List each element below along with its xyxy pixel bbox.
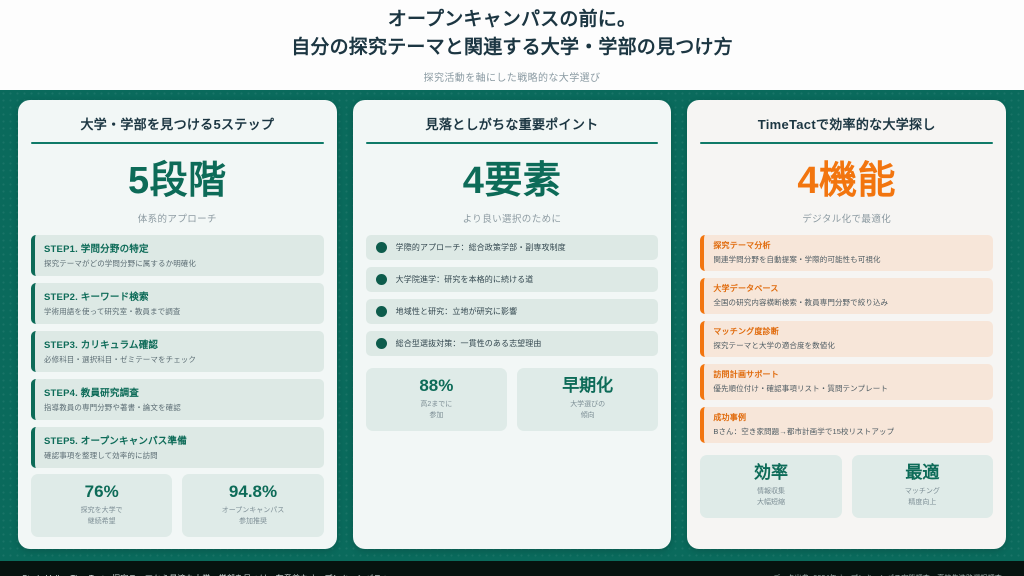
card-product-highlight: 4機能 デジタル化で最適化 (700, 148, 993, 235)
stat-label-line2: 参加推奨 (186, 517, 319, 528)
stat-label: 探究を大学で 継続希望 (35, 506, 168, 527)
list-item[interactable]: 地域性と研究：立地が研究に影響 (366, 299, 659, 324)
page-title-line2: 自分の探究テーマと関連する大学・学部の見つけ方 (291, 34, 733, 62)
card-points-list: 学際的アプローチ：総合政策学部・副専攻制度 大学院進学：研究を本格的に続ける道 … (366, 235, 659, 356)
card-product-big-value: 4機能 (700, 162, 993, 200)
card-points-title: 見落としがちな重要ポイント (366, 114, 659, 142)
feature-desc: 優先順位付け・確認事項リスト・質問テンプレート (713, 383, 984, 394)
feature-desc: Bさん：空き家問題→都市計画学で15校リストアップ (713, 426, 984, 437)
step-desc: 必修科目・選択科目・ゼミテーマをチェック (44, 354, 315, 365)
feature-title: 訪問計画サポート (713, 369, 984, 380)
card-steps-big-caption: 体系的アプローチ (31, 211, 324, 225)
stat-box: 早期化 大学選びの 傾向 (517, 368, 658, 431)
footer-brand-text: Study Valley TimeTact - 探究テーマから最適な大学・学部を… (22, 573, 390, 576)
list-item[interactable]: STEP5. オープンキャンパス準備 確認事項を整理して効率的に訪問 (31, 427, 324, 468)
stat-label-line2: 継続希望 (35, 517, 168, 528)
stat-label-line2: 大幅短縮 (704, 498, 837, 509)
slide-root: オープンキャンパスの前に。 自分の探究テーマと関連する大学・学部の見つけ方 探究… (0, 0, 1024, 576)
stat-label: 情報収集 大幅短縮 (704, 487, 837, 508)
stat-label-line1: 大学選びの (521, 400, 654, 411)
stat-box: 94.8% オープンキャンパス 参加推奨 (182, 474, 323, 537)
stat-label-line1: オープンキャンパス (186, 506, 319, 517)
card-product-list: 探究テーマ分析 関連学問分野を自動提案・学際的可能性も可視化 大学データベース … (700, 235, 993, 443)
stat-label-line1: マッチング (856, 487, 989, 498)
stat-label-line1: 探究を大学で (35, 506, 168, 517)
stat-value: 最適 (856, 464, 989, 481)
card-steps-title: 大学・学部を見つける5ステップ (31, 114, 324, 142)
bullet-dot-icon (376, 338, 387, 349)
bullet-dot-icon (376, 242, 387, 253)
card-points-highlight: 4要素 より良い選択のために (366, 148, 659, 235)
spacer (366, 431, 659, 537)
feature-desc: 関連学問分野を自動提案・学際的可能性も可視化 (713, 254, 984, 265)
step-desc: 学術用語を使って研究室・教員まで調査 (44, 306, 315, 317)
card-points: 見落としがちな重要ポイント 4要素 より良い選択のために 学際的アプローチ：総合… (353, 100, 672, 549)
bullet-dot-icon (376, 274, 387, 285)
list-item[interactable]: 大学データベース 全国の研究内容横断検索・教員専門分野で絞り込み (700, 278, 993, 314)
card-product-stats: 効率 情報収集 大幅短縮 最適 マッチング 精度向上 (700, 455, 993, 518)
page-subtitle: 探究活動を軸にした戦略的な大学選び (424, 69, 601, 84)
step-desc: 指導教員の専門分野や著書・論文を確認 (44, 402, 315, 413)
card-product: TimeTactで効率的な大学探し 4機能 デジタル化で最適化 探究テーマ分析 … (687, 100, 1006, 549)
list-item[interactable]: STEP3. カリキュラム確認 必修科目・選択科目・ゼミテーマをチェック (31, 331, 324, 372)
stat-value: 早期化 (521, 377, 654, 394)
content-panel: 大学・学部を見つける5ステップ 5段階 体系的アプローチ STEP1. 学問分野… (0, 90, 1024, 561)
stat-label-line1: 情報収集 (704, 487, 837, 498)
stat-label: オープンキャンパス 参加推奨 (186, 506, 319, 527)
feature-title: 成功事例 (713, 412, 984, 423)
card-points-big-value: 4要素 (366, 162, 659, 200)
bullet-dot-icon (376, 306, 387, 317)
card-points-rule (366, 142, 659, 144)
stat-box: 最適 マッチング 精度向上 (852, 455, 993, 518)
list-item[interactable]: 訪問計画サポート 優先順位付け・確認事項リスト・質問テンプレート (700, 364, 993, 400)
bullet-text: 総合型選抜対策：一貫性のある志望理由 (396, 338, 542, 349)
step-desc: 探究テーマがどの学問分野に属するか明確化 (44, 258, 315, 269)
list-item[interactable]: STEP1. 学問分野の特定 探究テーマがどの学問分野に属するか明確化 (31, 235, 324, 276)
stat-value: 効率 (704, 464, 837, 481)
feature-title: 探究テーマ分析 (713, 240, 984, 251)
stat-box: 88% 高2までに 参加 (366, 368, 507, 431)
list-item[interactable]: STEP2. キーワード検索 学術用語を使って研究室・教員まで調査 (31, 283, 324, 324)
step-title: STEP5. オープンキャンパス準備 (44, 433, 315, 447)
stat-label-line2: 傾向 (521, 411, 654, 422)
list-item[interactable]: 学際的アプローチ：総合政策学部・副専攻制度 (366, 235, 659, 260)
list-item[interactable]: 探究テーマ分析 関連学問分野を自動提案・学際的可能性も可視化 (700, 235, 993, 271)
step-desc: 確認事項を整理して効率的に訪問 (44, 450, 315, 461)
step-title: STEP4. 教員研究調査 (44, 385, 315, 399)
stat-value: 94.8% (186, 483, 319, 500)
stat-label: 大学選びの 傾向 (521, 400, 654, 421)
list-item[interactable]: 総合型選抜対策：一貫性のある志望理由 (366, 331, 659, 356)
stat-value: 88% (370, 377, 503, 394)
stat-label: マッチング 精度向上 (856, 487, 989, 508)
feature-desc: 全国の研究内容横断検索・教員専門分野で絞り込み (713, 297, 984, 308)
bullet-text: 大学院進学：研究を本格的に続ける道 (396, 274, 534, 285)
bullet-text: 学際的アプローチ：総合政策学部・副専攻制度 (396, 242, 566, 253)
feature-title: 大学データベース (713, 283, 984, 294)
card-steps-list: STEP1. 学問分野の特定 探究テーマがどの学問分野に属するか明確化 STEP… (31, 235, 324, 468)
step-title: STEP2. キーワード検索 (44, 289, 315, 303)
page-title: オープンキャンパスの前に。 自分の探究テーマと関連する大学・学部の見つけ方 (291, 6, 733, 61)
step-title: STEP3. カリキュラム確認 (44, 337, 315, 351)
slide-header: オープンキャンパスの前に。 自分の探究テーマと関連する大学・学部の見つけ方 探究… (0, 0, 1024, 90)
card-product-big-caption: デジタル化で最適化 (700, 211, 993, 225)
step-title: STEP1. 学問分野の特定 (44, 241, 315, 255)
slide-footer: Study Valley TimeTact - 探究テーマから最適な大学・学部を… (0, 561, 1024, 576)
list-item[interactable]: 大学院進学：研究を本格的に続ける道 (366, 267, 659, 292)
card-steps: 大学・学部を見つける5ステップ 5段階 体系的アプローチ STEP1. 学問分野… (18, 100, 337, 549)
card-steps-big-value: 5段階 (31, 162, 324, 200)
stat-value: 76% (35, 483, 168, 500)
card-product-title: TimeTactで効率的な大学探し (700, 114, 993, 142)
list-item[interactable]: STEP4. 教員研究調査 指導教員の専門分野や著書・論文を確認 (31, 379, 324, 420)
stat-label-line2: 精度向上 (856, 498, 989, 509)
card-steps-highlight: 5段階 体系的アプローチ (31, 148, 324, 235)
stat-box: 76% 探究を大学で 継続希望 (31, 474, 172, 537)
stat-label: 高2までに 参加 (370, 400, 503, 421)
feature-title: マッチング度診断 (713, 326, 984, 337)
stat-label-line1: 高2までに (370, 400, 503, 411)
card-steps-rule (31, 142, 324, 144)
list-item[interactable]: 成功事例 Bさん：空き家問題→都市計画学で15校リストアップ (700, 407, 993, 443)
stat-box: 効率 情報収集 大幅短縮 (700, 455, 841, 518)
page-title-line1: オープンキャンパスの前に。 (291, 6, 733, 34)
list-item[interactable]: マッチング度診断 探究テーマと大学の適合度を数値化 (700, 321, 993, 357)
bullet-text: 地域性と研究：立地が研究に影響 (396, 306, 518, 317)
card-steps-stats: 76% 探究を大学で 継続希望 94.8% オープンキャンパス 参加推奨 (31, 474, 324, 537)
card-points-big-caption: より良い選択のために (366, 211, 659, 225)
card-points-stats: 88% 高2までに 参加 早期化 大学選びの 傾向 (366, 368, 659, 431)
stat-label-line2: 参加 (370, 411, 503, 422)
spacer (700, 518, 993, 537)
card-product-rule (700, 142, 993, 144)
feature-desc: 探究テーマと大学の適合度を数値化 (713, 340, 984, 351)
